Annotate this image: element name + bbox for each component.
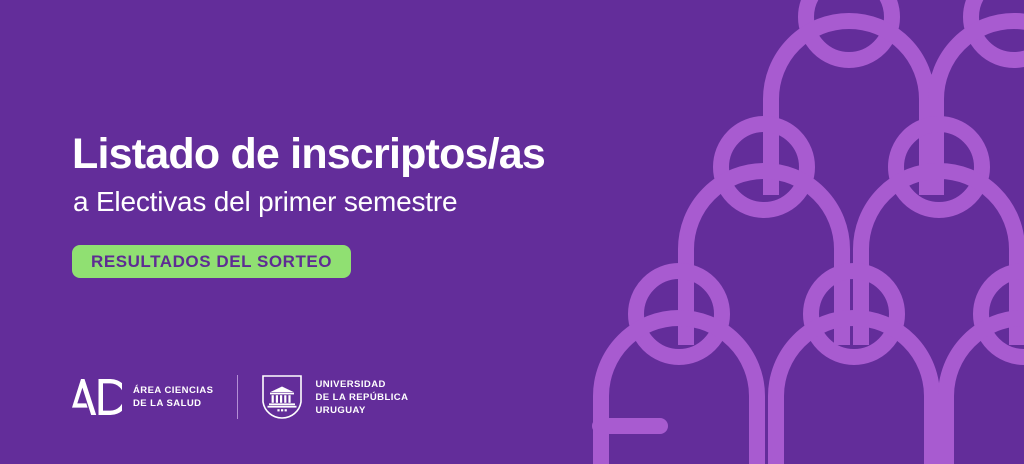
status-badge[interactable]: RESULTADOS DEL SORTEO xyxy=(72,245,351,278)
logo-divider xyxy=(237,375,238,419)
promo-banner: Listado de inscriptos/as a Electivas del… xyxy=(0,0,1024,464)
udelar-logo-line-3: URUGUAY xyxy=(315,404,408,417)
acs-logo-line-1: ÁREA CIENCIAS xyxy=(133,384,213,397)
udelar-logo-line-2: DE LA REPÚBLICA xyxy=(315,391,408,404)
udelar-logo-line-1: UNIVERSIDAD xyxy=(315,378,408,391)
acs-logo-text: ÁREA CIENCIAS DE LA SALUD xyxy=(133,384,213,410)
udelar-logo[interactable]: UNIVERSIDAD DE LA REPÚBLICA URUGUAY xyxy=(261,374,408,420)
page-title: Listado de inscriptos/as xyxy=(72,131,545,177)
acs-logo[interactable]: ÁREA CIENCIAS DE LA SALUD xyxy=(72,377,213,417)
acs-monogram-icon xyxy=(72,377,122,417)
acs-logo-line-2: DE LA SALUD xyxy=(133,397,213,410)
udelar-seal-icon xyxy=(261,374,303,420)
logo-bar: ÁREA CIENCIAS DE LA SALUD xyxy=(72,372,408,422)
udelar-logo-text: UNIVERSIDAD DE LA REPÚBLICA URUGUAY xyxy=(315,378,408,417)
people-crowd-pattern xyxy=(584,0,1024,464)
page-subtitle: a Electivas del primer semestre xyxy=(73,186,457,218)
